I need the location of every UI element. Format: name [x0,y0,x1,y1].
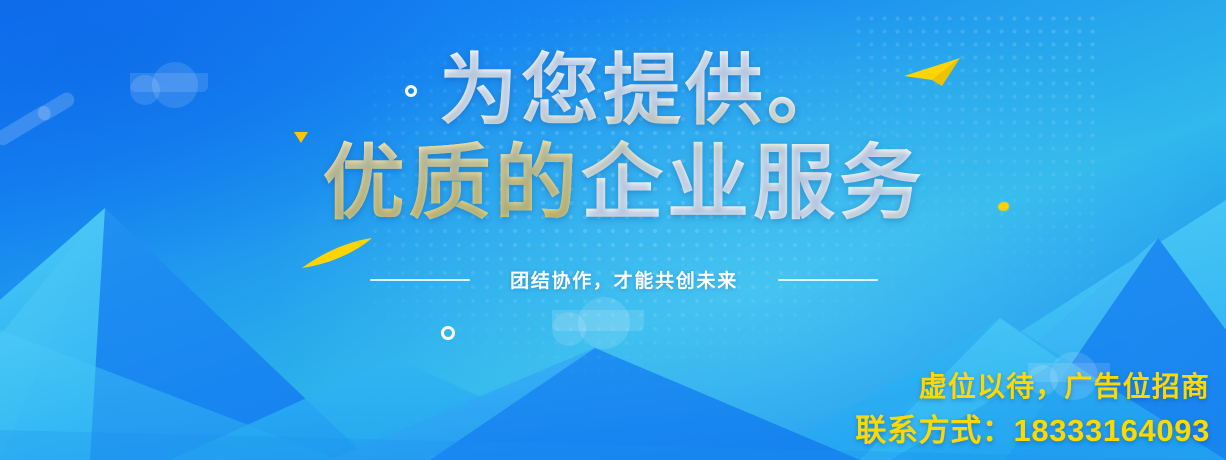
subtitle-row: 团结协作，才能共创未来 [0,266,1226,293]
ad-slot-text: 虚位以待，广告位招商 [855,366,1210,408]
headline-line-2: 优质的企业服务 [0,140,1226,228]
headline-line-2-white: 企业服务 [581,138,925,229]
ring-circle-icon-lower [441,326,455,340]
headline-line-1-text: 为您提供。 [439,46,849,134]
divider-line-right [778,279,878,281]
promotional-banner: 为您提供。 优质的企业服务 团结协作，才能共创未来 虚位以待，广告位招商 联系方… [0,0,1226,460]
contact-phone-text[interactable]: 联系方式：18333164093 [855,408,1210,454]
subtitle-text: 团结协作，才能共创未来 [510,266,738,293]
divider-line-left [370,279,470,281]
headline-line-1: 为您提供。 [0,48,1226,132]
contact-block: 虚位以待，广告位招商 联系方式：18333164093 [855,366,1210,454]
cloud-icon-center [552,297,644,331]
headline-line-2-gold: 优质的 [323,138,581,229]
